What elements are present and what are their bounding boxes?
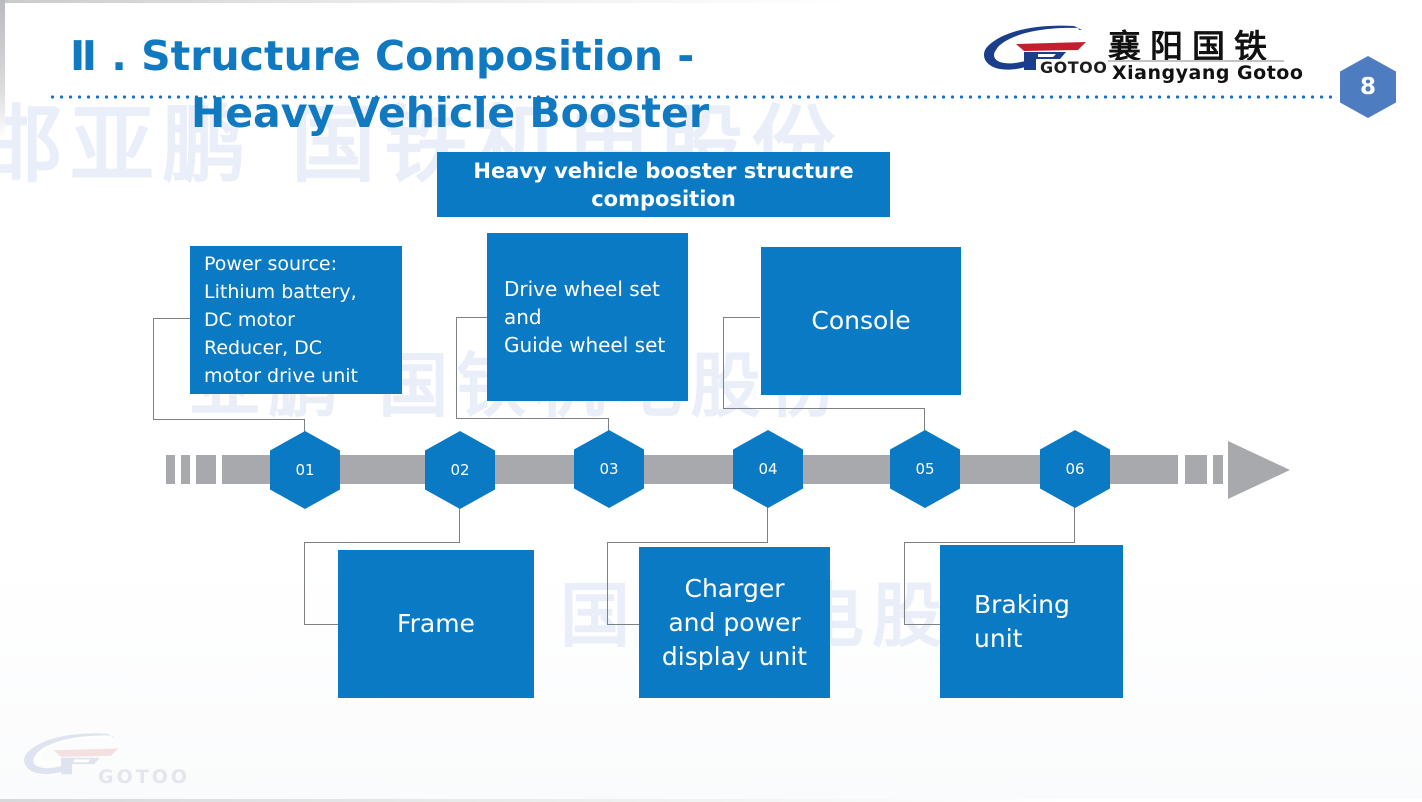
step-box-02[interactable]: Frame — [338, 550, 534, 698]
company-logo: GOTOO 襄阳国铁 Xiangyang Gotoo — [978, 18, 1278, 90]
step-hexagon-06-label: 06 — [1065, 460, 1084, 478]
connector-01-v1 — [153, 318, 154, 419]
step-hexagon-06[interactable]: 06 — [1040, 430, 1110, 508]
connector-01-h1 — [153, 318, 193, 319]
step-box-03[interactable]: Drive wheel set and Guide wheel set — [487, 233, 688, 401]
connector-02-v2 — [304, 542, 305, 624]
step-box-05-label: Console — [811, 304, 910, 338]
step-box-04[interactable]: Charger and power display unit — [639, 547, 830, 698]
connector-05-v1 — [723, 317, 724, 408]
connector-04-h2 — [607, 624, 642, 625]
bar-head-tick-1 — [1185, 455, 1207, 484]
connector-04-v1 — [767, 503, 768, 542]
step-box-01-label: Power source: Lithium battery, DC motor … — [204, 250, 358, 390]
step-box-01[interactable]: Power source: Lithium battery, DC motor … — [190, 246, 402, 394]
bar-tail-tick-3 — [196, 455, 216, 484]
page-title: Ⅱ . Structure Composition - Heavy Vehicl… — [70, 28, 830, 142]
step-hexagon-05[interactable]: 05 — [890, 430, 960, 508]
step-hexagon-02-label: 02 — [450, 461, 469, 479]
step-hexagon-05-label: 05 — [915, 460, 934, 478]
step-box-06-label: Braking unit — [974, 588, 1070, 656]
slide-canvas: 邯亚鹏 国铁机电股份 亚鹏 国铁机电股份 国铁机电股份 Ⅱ . Structur… — [0, 0, 1422, 802]
footer-brand-latin: GOTOO — [98, 766, 190, 788]
step-hexagon-03-label: 03 — [599, 460, 618, 478]
connector-02-h1 — [304, 542, 460, 543]
step-box-03-label: Drive wheel set and Guide wheel set — [504, 275, 665, 359]
connector-04-v2 — [607, 542, 608, 624]
timeline-arrowhead-icon — [1228, 441, 1290, 499]
connector-03-h2 — [456, 418, 609, 419]
step-box-06[interactable]: Braking unit — [940, 545, 1123, 698]
connector-06-h1 — [904, 542, 1075, 543]
step-hexagon-04-label: 04 — [758, 460, 777, 478]
logo-brand-en: Xiangyang Gotoo — [1112, 62, 1303, 84]
connector-06-v2 — [904, 542, 905, 624]
step-hexagon-03[interactable]: 03 — [574, 430, 644, 508]
step-box-02-label: Frame — [397, 607, 475, 641]
step-hexagon-01[interactable]: 01 — [270, 431, 340, 509]
page-title-line-2: Heavy Vehicle Booster — [70, 85, 830, 142]
footer-logo: GOTOO — [18, 730, 200, 790]
bar-tail-tick-2 — [181, 455, 190, 484]
page-number-badge: 8 — [1340, 56, 1396, 118]
logo-brand-latin: GOTOO — [1040, 58, 1107, 77]
connector-04-h1 — [607, 542, 768, 543]
connector-01-h2 — [153, 419, 305, 420]
timeline-bar — [222, 455, 1178, 484]
connector-06-h2 — [904, 624, 941, 625]
step-hexagon-02[interactable]: 02 — [425, 431, 495, 509]
connector-03-h1 — [456, 317, 489, 318]
connector-05-h2 — [723, 408, 925, 409]
slide-left-edge — [0, 0, 5, 140]
step-hexagon-04[interactable]: 04 — [733, 430, 803, 508]
connector-03-v1 — [456, 317, 457, 418]
bar-tail-tick-1 — [166, 455, 175, 484]
slide-top-edge — [0, 0, 1422, 3]
page-title-line-1: Ⅱ . Structure Composition - — [70, 28, 830, 85]
connector-05-h1 — [723, 317, 760, 318]
bar-head-tick-2 — [1213, 455, 1223, 484]
step-box-05[interactable]: Console — [761, 247, 961, 395]
step-box-04-label: Charger and power display unit — [662, 572, 807, 674]
diagram-title-banner: Heavy vehicle booster structure composit… — [437, 152, 890, 217]
connector-06-v1 — [1074, 503, 1075, 542]
step-hexagon-01-label: 01 — [295, 461, 314, 479]
connector-02-h2 — [304, 624, 340, 625]
